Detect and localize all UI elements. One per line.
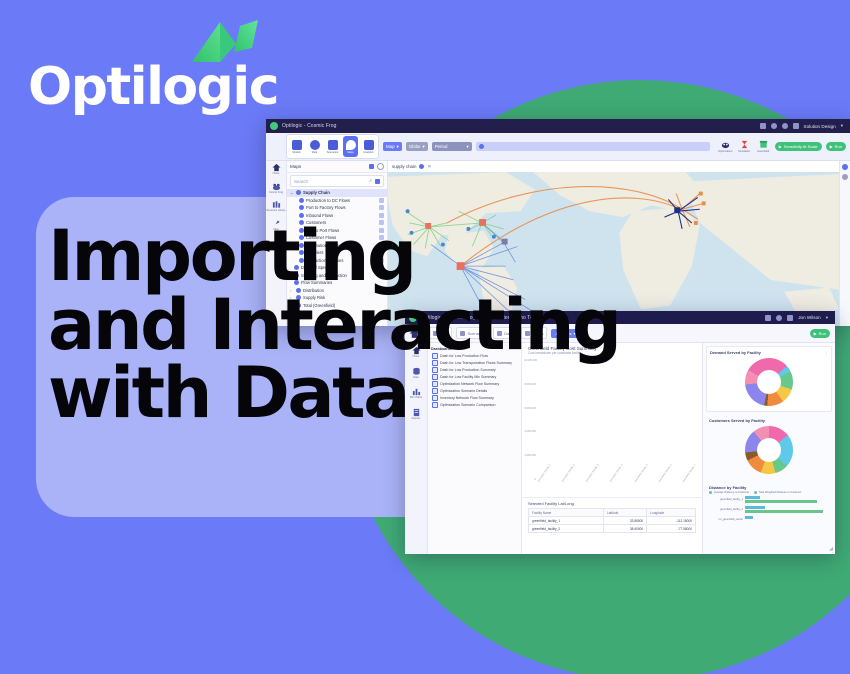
chat-icon[interactable] — [782, 123, 788, 129]
h-bar-avg — [745, 506, 765, 509]
share-icon[interactable] — [760, 123, 766, 129]
tree-item-label: Port to Port Flows — [306, 228, 339, 233]
dash-rail-item-data[interactable]: Data — [406, 367, 426, 380]
h-bar-label: greenfield_facility_2 — [709, 508, 743, 511]
list-item[interactable]: Dash for Low Facility Mix Summary — [428, 373, 521, 380]
frog-icon — [272, 182, 281, 191]
list-item[interactable]: Dash for Low Production Summary — [428, 366, 521, 373]
rail-item-home[interactable]: Home — [266, 163, 286, 176]
chevron-down-icon: ▾ — [574, 331, 576, 336]
tree-item-label: Sourcing and Production — [301, 273, 347, 278]
table-col-header[interactable]: Latitude — [603, 509, 646, 517]
tree-root-label: Supply Chain — [303, 190, 330, 195]
layer-icon — [294, 265, 299, 270]
engine-label: Greenfield — [757, 150, 769, 153]
module-button-data[interactable]: Data — [307, 136, 322, 157]
rail-label: Home — [273, 173, 280, 176]
chevron-down-icon[interactable]: ▾ — [826, 315, 828, 321]
rail-label: Atlas — [273, 229, 279, 232]
dash-rail-item-bar-charts[interactable]: Bar Charts — [406, 387, 426, 400]
checkbox-icon[interactable] — [432, 388, 438, 394]
module-label: Maps — [347, 151, 353, 154]
checkbox-icon[interactable] — [432, 353, 438, 359]
facility-table-wrap: Selected Facility Lat/Long Facility Name… — [522, 497, 702, 554]
run-label: Run — [835, 144, 842, 149]
map-tab-status-icon — [419, 164, 424, 169]
visibility-toggle-icon[interactable] — [379, 198, 384, 203]
chevron-down-icon: ▾ — [422, 144, 424, 150]
checkbox-icon[interactable] — [432, 395, 438, 401]
layer-icon — [299, 220, 304, 225]
module-label: Data — [312, 151, 317, 154]
period-label: Period — [435, 144, 448, 149]
checkbox-icon[interactable] — [432, 402, 438, 408]
map-pin-icon — [346, 140, 356, 150]
layers-icon — [328, 140, 338, 150]
analytics-dropdown[interactable]: Analytics▾ — [551, 329, 579, 338]
module-label: Models — [292, 151, 300, 154]
tree-collapsed-supply-risk[interactable]: ›Supply Risk — [287, 294, 387, 302]
legend-label: Average Distance to Customer — [714, 491, 749, 494]
resize-handle-icon[interactable]: ◢ — [829, 546, 833, 552]
tree-item-label: Distribution Centers — [306, 243, 343, 248]
chart-icon — [525, 331, 530, 336]
chevron-down-icon: ▾ — [397, 144, 399, 150]
map-tab-label[interactable]: supply chain — [392, 164, 416, 169]
card-title: Customers Served by Facility — [709, 418, 829, 423]
layer-icon — [299, 198, 304, 203]
sensitivity-at-scale-button[interactable]: ▶ Sensitivity At Scale — [775, 142, 822, 151]
cell-facility: greenfield_facility_2 — [529, 525, 604, 533]
card-demand-served: ⋮ Demand Served by Facility — [706, 346, 832, 412]
notification-bell-icon[interactable] — [787, 315, 793, 321]
close-icon[interactable]: ✕ — [427, 164, 431, 170]
maps-panel-header: Maps — [287, 161, 387, 173]
database-icon — [310, 140, 320, 150]
toolbar-button-files[interactable]: Files — [429, 327, 452, 339]
tree-search-placeholder: Search — [294, 179, 308, 184]
library-icon — [272, 200, 281, 209]
rail-item-resource-library[interactable]: Resource Library — [266, 200, 286, 213]
tree-item-label: Total (Greenfield) — [303, 303, 335, 308]
x-axis: greenfield_facility_1greenfield_facility… — [537, 481, 696, 495]
database-icon — [412, 367, 421, 376]
chat-icon[interactable] — [776, 315, 782, 321]
toolbar-label: Data — [504, 331, 512, 336]
add-map-icon[interactable] — [369, 164, 374, 169]
rail-label: Cosmic Frog — [269, 192, 283, 195]
visibility-toggle-icon[interactable] — [379, 258, 384, 263]
visibility-toggle-icon[interactable] — [379, 220, 384, 225]
legend: Average Distance to Customer Max Weighte… — [709, 491, 829, 494]
database-icon — [497, 331, 502, 336]
bar-chart-icon — [412, 387, 421, 396]
h-bar-label: greenfield_facility_1 — [709, 498, 743, 501]
checkbox-icon[interactable] — [432, 374, 438, 380]
h-bar-max — [745, 500, 817, 503]
globe-dropdown[interactable]: Globe ▾ — [406, 142, 428, 151]
play-icon: ▶ — [814, 331, 817, 336]
horizontal-bar-series: greenfield_facility_1greenfield_facility… — [709, 496, 829, 523]
list-item-label: Optimization Scenario Details — [440, 389, 487, 393]
list-item-label: Optimization Scenario Comparison — [440, 403, 496, 407]
toolbar-label: Files — [440, 331, 448, 336]
card-title: Demand Served by Facility — [710, 350, 828, 355]
h-bar-row[interactable]: greenfield_facility_2 — [709, 506, 829, 513]
engine-label: Simulation — [738, 150, 750, 153]
rail-label: Resource Library — [266, 210, 285, 213]
dashboard-main-panel: Greenfield Facility Cost Summary Cost br… — [522, 343, 702, 554]
help-icon[interactable] — [771, 123, 777, 129]
home-icon[interactable] — [409, 328, 420, 339]
tree-item[interactable]: Production to DC Flows — [287, 197, 387, 205]
table-row[interactable]: greenfield_facility_1 33.88000 -112.1800… — [529, 517, 696, 525]
module-button-models[interactable]: Models — [289, 136, 304, 157]
greenfield-icon — [759, 140, 768, 149]
cell-longitude: -112.18000 — [647, 517, 696, 525]
file-icon — [433, 331, 438, 336]
y-tick: 2,000,000 — [524, 454, 536, 457]
layer-icon — [299, 250, 304, 255]
tree-item[interactable]: Port to Port Flows — [287, 227, 387, 235]
layer-icon — [299, 213, 304, 218]
card-title: Distance by Facility — [709, 485, 829, 490]
dash-rail-item-home[interactable]: Home — [406, 346, 426, 359]
rail-item-cosmic-frog[interactable]: Cosmic Frog — [266, 182, 286, 195]
list-item[interactable]: Inventory Network Flow Summary — [428, 394, 521, 401]
h-bar-avg — [745, 496, 760, 499]
engine-button-simulation[interactable]: Simulation — [737, 140, 752, 153]
filter-icon[interactable] — [375, 179, 380, 184]
chevron-right-icon: › — [290, 303, 294, 308]
list-item[interactable]: Optimization Scenario Details — [428, 387, 521, 394]
list-item-label: Dash for Low Production Flow — [440, 354, 488, 358]
tree-item[interactable]: Suppliers — [287, 249, 387, 257]
home-icon — [412, 346, 421, 355]
optimization-icon — [721, 140, 730, 149]
dashboard-window-titlebar: Optilogic - Cosmic Frog - Consolidated D… — [405, 311, 835, 324]
tree-item-label: Suppliers — [306, 250, 323, 255]
layers-icon — [460, 331, 465, 336]
checkbox-icon[interactable] — [432, 360, 438, 366]
tree-item[interactable]: Customers — [287, 219, 387, 227]
dashboard-window[interactable]: Optilogic - Cosmic Frog - Consolidated D… — [405, 311, 835, 553]
card-distance-by-facility: Distance by Facility Average Distance to… — [706, 482, 832, 526]
engine-button-optimization[interactable]: Optimization — [718, 140, 733, 153]
list-item[interactable]: Optimization Network Flow Summary — [428, 380, 521, 387]
app-logo-icon — [270, 122, 278, 130]
visibility-toggle-icon[interactable] — [379, 250, 384, 255]
legend-label: Max Weighted Distance to Customer — [759, 491, 801, 494]
cell-latitude: 33.88000 — [603, 517, 646, 525]
list-item-label: Dash for Low Transportation Flows Summar… — [440, 361, 512, 365]
cell-facility: greenfield_facility_1 — [529, 517, 604, 525]
search-icon — [479, 144, 484, 149]
stacked-bar-chart[interactable]: 10,000,000 8,000,000 6,000,000 4,000,000… — [522, 355, 702, 497]
chevron-right-icon: › — [290, 288, 294, 293]
run-button[interactable]: ▶ Run — [826, 142, 846, 151]
dashboard-run-button[interactable]: ▶ Run — [810, 329, 830, 338]
tree-item-label: Inbound Flows — [306, 213, 333, 218]
donut-chart-demand[interactable] — [745, 358, 793, 406]
rocket-icon — [272, 219, 281, 228]
map-settings-icon[interactable] — [842, 164, 848, 170]
app-logo-icon — [409, 314, 417, 322]
module-button-analytics[interactable]: Analytics — [361, 136, 376, 157]
layer-icon — [294, 280, 299, 285]
rail-label: Data — [413, 377, 418, 380]
dashboard-list-header: Dashboards — [428, 345, 521, 352]
refresh-icon[interactable] — [377, 163, 384, 170]
chevron-down-icon: ▾ — [466, 144, 468, 150]
list-item-label: Dash for Low Facility Mix Summary — [440, 375, 496, 379]
tree-item[interactable]: Customer Flows — [287, 234, 387, 242]
rail-label: Reports — [412, 418, 421, 421]
donut-chart-customers[interactable] — [745, 426, 793, 474]
chart-title: Greenfield Facility Cost Summary — [522, 343, 702, 351]
analytics-label: Analytics — [555, 331, 571, 336]
tree-item-label: Customers — [306, 220, 326, 225]
module-label: Analytics — [363, 151, 373, 154]
period-dropdown[interactable]: Period ▾ — [432, 142, 472, 151]
folder-icon — [296, 295, 301, 300]
h-bar-max — [745, 510, 823, 513]
layer-icon — [299, 258, 304, 263]
layer-icon — [299, 243, 304, 248]
simulation-icon — [740, 140, 749, 149]
tree-collapsed-total-greenfield[interactable]: ›Total (Greenfield) — [287, 302, 387, 310]
map-viewport[interactable]: supply chain ✕ — [388, 161, 839, 326]
report-icon — [412, 408, 421, 417]
chevron-down-icon[interactable]: ▾ — [841, 123, 843, 129]
bar-series — [537, 359, 696, 481]
engine-button-group: Optimization Simulation Greenfield — [718, 140, 771, 153]
map-window-titlebar: Optilogic - Cosmic Frog Solution Design … — [266, 119, 850, 133]
tree-item[interactable]: Distribution Centers — [287, 242, 387, 250]
checkbox-icon[interactable] — [432, 367, 438, 373]
map-window[interactable]: Optilogic - Cosmic Frog Solution Design … — [266, 119, 850, 325]
list-item-label: Optimization Network Flow Summary — [440, 382, 499, 386]
dashboard-right-panel[interactable]: ⋮ Demand Served by Facility Customers Se… — [702, 343, 835, 554]
play-icon: ▶ — [830, 144, 833, 149]
list-item-label: Inventory Network Flow Summary — [440, 396, 494, 400]
facility-table[interactable]: Facility Name Latitude Longitude greenfi… — [528, 508, 696, 533]
engine-button-greenfield[interactable]: Greenfield — [756, 140, 771, 153]
table-row[interactable]: greenfield_facility_2 38.60000 -77.58000 — [529, 525, 696, 533]
map-search-input[interactable] — [476, 142, 710, 151]
toolbar-label: Charts — [532, 331, 544, 336]
chevron-right-icon: › — [290, 295, 294, 300]
y-axis: 10,000,000 8,000,000 6,000,000 4,000,000… — [524, 359, 536, 481]
y-tick: 0 — [524, 478, 536, 481]
workspace-selector[interactable]: Solution Design — [804, 124, 836, 129]
cell-latitude: 38.60000 — [603, 525, 646, 533]
tree-item-label: Demand Spread — [301, 265, 332, 270]
visibility-toggle-icon[interactable] — [379, 243, 384, 248]
folder-icon — [296, 288, 301, 293]
folder-icon — [296, 303, 301, 308]
layer-icon — [299, 205, 304, 210]
dashboard-window-title: Optilogic - Cosmic Frog - Consolidated D… — [421, 315, 551, 321]
dashboard-left-rail: Home Data Bar Charts Reports — [405, 343, 428, 554]
share-icon[interactable] — [765, 315, 771, 321]
module-button-group: Models Data Scenarios Maps Analytics — [286, 134, 379, 159]
table-col-header[interactable]: Facility Name — [529, 509, 604, 517]
tree-search-input[interactable]: Search ⌕ — [290, 175, 384, 187]
visibility-toggle-icon[interactable] — [379, 213, 384, 218]
y-tick: 8,000,000 — [524, 383, 536, 386]
module-button-scenarios[interactable]: Scenarios — [325, 136, 340, 157]
tree-item-label: Production Facilities — [306, 258, 343, 263]
chart-icon — [364, 140, 374, 150]
y-tick: 10,000,000 — [524, 359, 536, 362]
tree-item[interactable]: Port to Factory Flows — [287, 204, 387, 212]
toolbar-button-data[interactable]: Data — [493, 327, 516, 339]
table-title: Selected Facility Lat/Long — [528, 501, 696, 506]
layer-icon — [299, 228, 304, 233]
folder-icon — [296, 190, 301, 195]
layer-icon — [294, 273, 299, 278]
engine-label: Optimization — [718, 150, 732, 153]
h-bar-row[interactable]: greenfield_facility_1 — [709, 496, 829, 503]
visibility-toggle-icon[interactable] — [379, 235, 384, 240]
toolbar-button-charts[interactable]: Charts — [521, 327, 548, 339]
card-menu-icon[interactable]: ⋮ — [824, 350, 828, 355]
dashboard-toolbar: Files Scenarios Data Charts Analytics▾ ▶… — [405, 324, 835, 343]
list-item[interactable]: Optimization Scenario Comparison — [428, 401, 521, 408]
notification-bell-icon[interactable] — [793, 123, 799, 129]
map-window-title: Optilogic - Cosmic Frog — [282, 123, 337, 129]
layer-icon — [299, 235, 304, 240]
visibility-toggle-icon[interactable] — [379, 205, 384, 210]
tree-item-label: Supply Risk — [303, 295, 325, 300]
brand-wordmark: Optilogic — [28, 57, 278, 117]
tree-item[interactable]: Demand Spread — [287, 264, 387, 272]
rail-item-atlas[interactable]: Atlas — [266, 219, 286, 232]
search-icon: ⌕ — [369, 178, 372, 184]
list-item[interactable]: Dash for Low Transportation Flows Summar… — [428, 359, 521, 366]
cell-longitude: -77.58000 — [647, 525, 696, 533]
dash-rail-item-reports[interactable]: Reports — [406, 408, 426, 421]
play-icon: ▶ — [779, 144, 782, 149]
map-type-label: Map — [386, 144, 395, 149]
toolbar-label: Scenarios — [467, 331, 485, 336]
module-label: Scenarios — [327, 151, 339, 154]
module-button-maps[interactable]: Maps — [343, 136, 358, 157]
maps-tree-panel: Maps Search ⌕ ⌄ Supply Chain Production … — [287, 161, 388, 326]
tree-item[interactable]: Sourcing and Production — [287, 272, 387, 280]
grid-icon — [292, 140, 302, 150]
table-header-row: Facility Name Latitude Longitude — [529, 509, 696, 517]
tree-item-label: Distribution — [303, 288, 324, 293]
tree-item-label: Flow Summaries — [301, 280, 332, 285]
sensitivity-label: Sensitivity At Scale — [784, 144, 818, 149]
list-item[interactable]: Dash for Low Production Flow — [428, 352, 521, 359]
map-legend-icon[interactable] — [842, 174, 848, 180]
h-bar-row[interactable]: no_greenfield_center — [709, 516, 829, 523]
tree-collapsed-distribution[interactable]: ›Distribution — [287, 287, 387, 295]
list-item-label: Dash for Low Production Summary — [440, 368, 496, 372]
tree-item-label: Port to Factory Flows — [306, 205, 346, 210]
map-type-dropdown[interactable]: Map ▾ — [383, 142, 402, 151]
poster-stage: Optilogic Optilogic - Cosmic Frog Soluti… — [0, 0, 850, 674]
tree-item[interactable]: Inbound Flows — [287, 212, 387, 220]
home-icon — [272, 163, 281, 172]
tree-item-label: Production to DC Flows — [306, 198, 350, 203]
tree-item[interactable]: Flow Summaries — [287, 279, 387, 287]
legend-swatch — [754, 491, 757, 494]
dashboard-list-panel: Dashboards Dash for Low Production Flow … — [428, 343, 522, 554]
world-map-canvas[interactable] — [388, 172, 839, 324]
run-label: Run — [819, 331, 826, 336]
card-customers-served: Customers Served by Facility — [706, 415, 832, 479]
y-tick: 4,000,000 — [524, 430, 536, 433]
tree-root-supply-chain[interactable]: ⌄ Supply Chain — [287, 189, 387, 197]
toolbar-button-scenarios[interactable]: Scenarios — [456, 327, 489, 339]
h-bar-avg — [745, 516, 753, 519]
globe-label: Globe — [409, 144, 421, 149]
tree-item-label: Customer Flows — [306, 235, 336, 240]
h-bar-label: no_greenfield_center — [709, 518, 743, 521]
map-toolbar: › Models Data Scenarios Maps — [266, 133, 850, 161]
map-right-rail — [839, 161, 850, 326]
table-col-header[interactable]: Longitude — [647, 509, 696, 517]
visibility-toggle-icon[interactable] — [379, 228, 384, 233]
map-left-rail: Home Cosmic Frog Resource Library Atlas — [266, 161, 287, 326]
maps-panel-title: Maps — [290, 164, 301, 169]
rail-label: Home — [413, 356, 420, 359]
y-tick: 6,000,000 — [524, 407, 536, 410]
rail-label: Bar Charts — [410, 397, 422, 400]
chevron-down-icon: ⌄ — [290, 190, 294, 195]
legend-swatch — [709, 491, 712, 494]
checkbox-icon[interactable] — [432, 381, 438, 387]
brand-logo: Optilogic — [28, 14, 328, 106]
tree-item[interactable]: Production Facilities — [287, 257, 387, 265]
user-menu[interactable]: Jon Wilson — [798, 315, 820, 320]
